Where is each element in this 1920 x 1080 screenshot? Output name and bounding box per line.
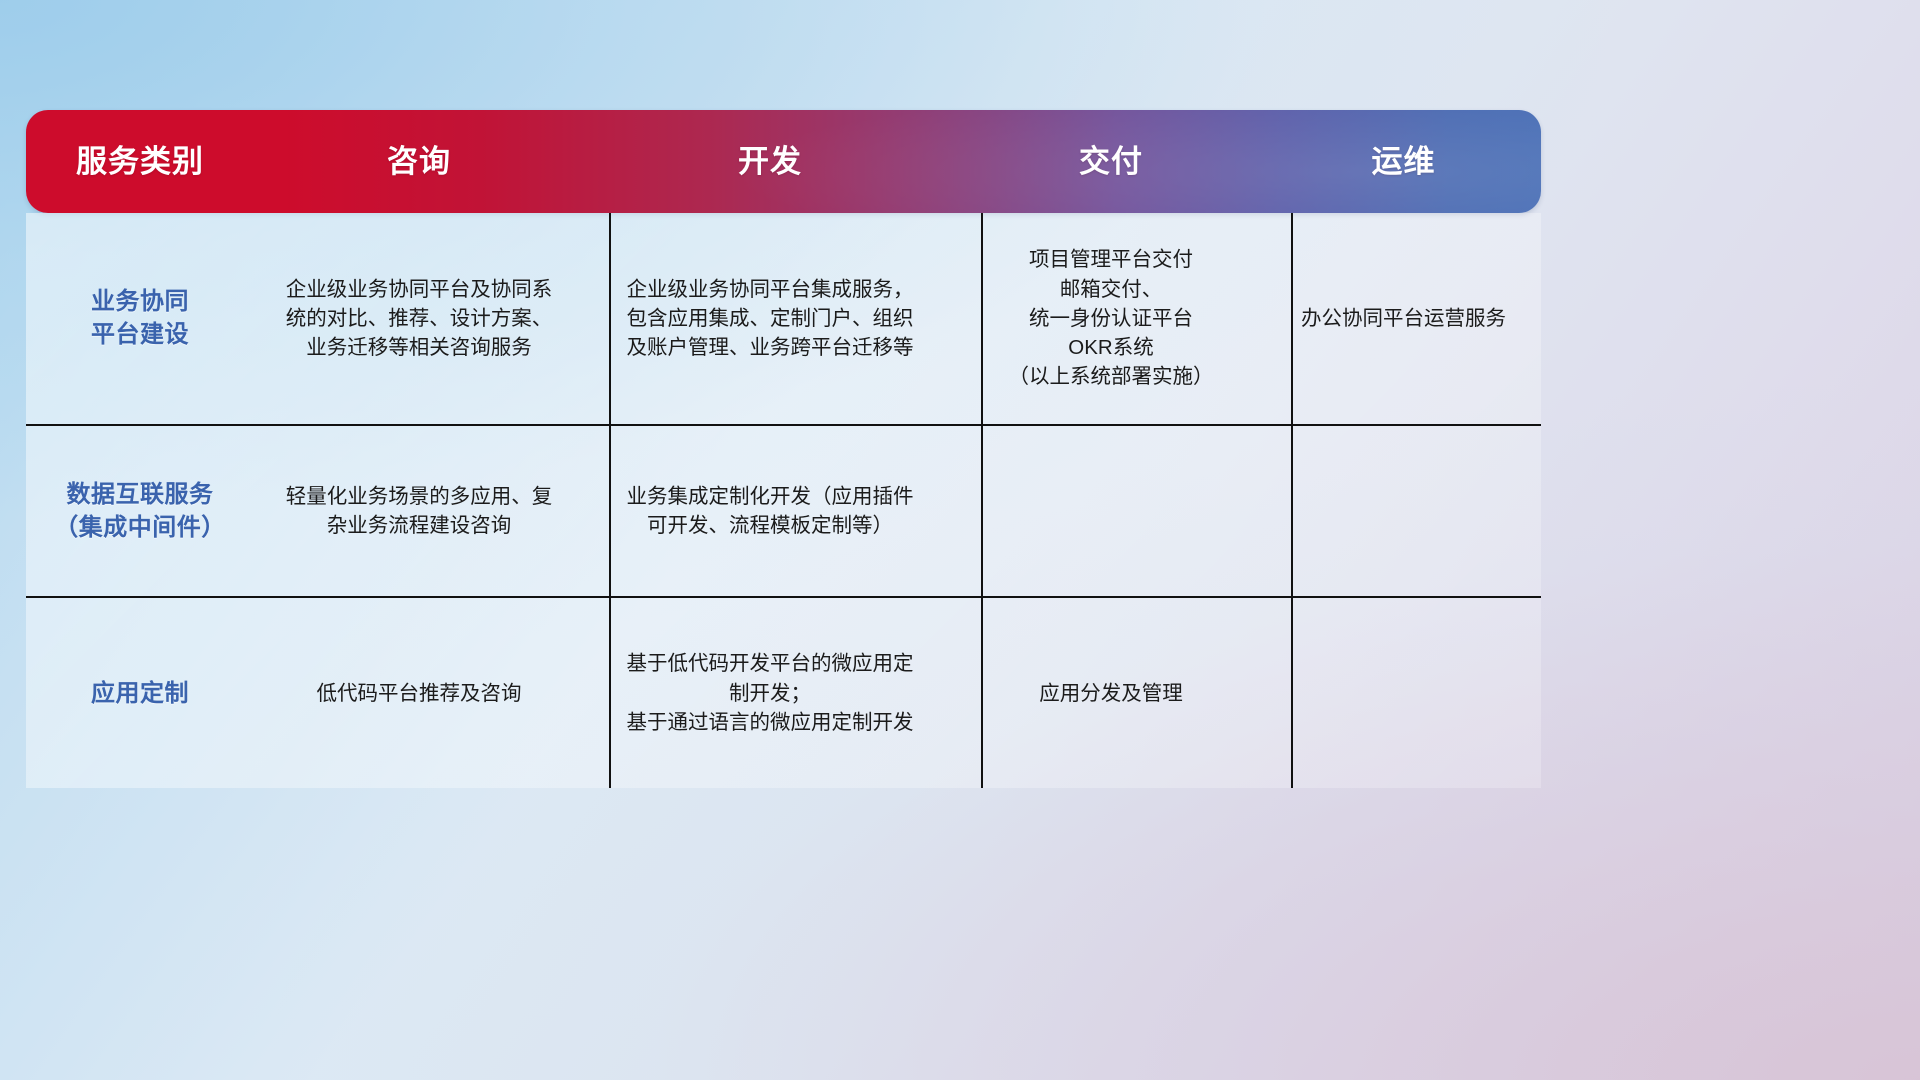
table-rows: 业务协同 平台建设 企业级业务协同平台及协同系 统的对比、推荐、设计方案、 业务…: [26, 213, 1541, 788]
header-cell-development: 开发: [584, 146, 956, 177]
cell-row2-development: 基于低代码开发平台的微应用定 制开发； 基于通过语言的微应用定制开发: [584, 598, 956, 788]
cell-row0-operations: 办公协同平台运营服务: [1266, 213, 1541, 424]
cell-row1-delivery: [956, 426, 1266, 597]
cell-row2-delivery: 应用分发及管理: [956, 598, 1266, 788]
cell-row1-operations: [1266, 426, 1541, 597]
service-matrix-table: 服务类别 咨询 开发 交付 运维 业务协同 平台建设 企业级业务协同平台及协同系…: [26, 110, 1541, 788]
cell-row1-development: 业务集成定制化开发（应用插件 可开发、流程模板定制等）: [584, 426, 956, 597]
cell-row0-delivery: 项目管理平台交付 邮箱交付、 统一身份认证平台 OKR系统 （以上系统部署实施）: [956, 213, 1266, 424]
table-row: 应用定制 低代码平台推荐及咨询 基于低代码开发平台的微应用定 制开发； 基于通过…: [26, 598, 1541, 788]
row-label-app-customization: 应用定制: [26, 598, 254, 788]
column-divider-consulting-development: [609, 213, 611, 788]
header-cell-consulting: 咨询: [254, 146, 584, 177]
cell-row2-operations: [1266, 598, 1541, 788]
column-divider-delivery-operations: [1291, 213, 1293, 788]
row-label-business-collaboration: 业务协同 平台建设: [26, 213, 254, 424]
cell-row2-consulting: 低代码平台推荐及咨询: [254, 598, 584, 788]
slide-canvas: 服务类别 咨询 开发 交付 运维 业务协同 平台建设 企业级业务协同平台及协同系…: [0, 0, 1920, 1080]
row-label-data-interconnect: 数据互联服务 （集成中间件）: [26, 426, 254, 597]
header-cell-operations: 运维: [1266, 146, 1541, 177]
table-header-band: 服务类别 咨询 开发 交付 运维: [26, 110, 1541, 213]
table-body: 业务协同 平台建设 企业级业务协同平台及协同系 统的对比、推荐、设计方案、 业务…: [26, 213, 1541, 788]
header-row: 服务类别 咨询 开发 交付 运维: [26, 110, 1541, 213]
column-divider-development-delivery: [981, 213, 983, 788]
table-row: 业务协同 平台建设 企业级业务协同平台及协同系 统的对比、推荐、设计方案、 业务…: [26, 213, 1541, 424]
cell-row1-consulting: 轻量化业务场景的多应用、复 杂业务流程建设咨询: [254, 426, 584, 597]
cell-row0-consulting: 企业级业务协同平台及协同系 统的对比、推荐、设计方案、 业务迁移等相关咨询服务: [254, 213, 584, 424]
header-cell-category: 服务类别: [26, 146, 254, 177]
cell-row0-development: 企业级业务协同平台集成服务， 包含应用集成、定制门户、组织 及账户管理、业务跨平…: [584, 213, 956, 424]
table-row: 数据互联服务 （集成中间件） 轻量化业务场景的多应用、复 杂业务流程建设咨询 业…: [26, 426, 1541, 597]
header-cell-delivery: 交付: [956, 146, 1266, 177]
